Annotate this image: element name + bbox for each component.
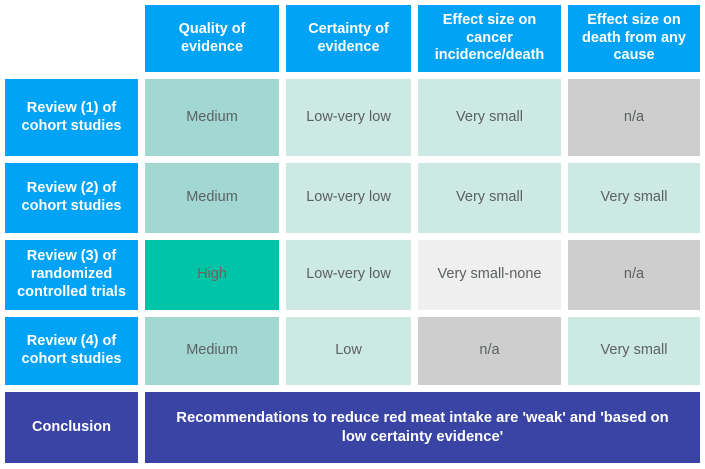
cell-review-4-effect-cancer: n/a bbox=[418, 317, 561, 385]
evidence-summary-table: Quality ofevidence Certainty ofevidence … bbox=[0, 0, 705, 469]
column-header-effect-size-cancer: Effect size oncancerincidence/death bbox=[418, 5, 561, 72]
cell-review-1-certainty: Low-very low bbox=[286, 79, 411, 156]
column-header-effect-size-death: Effect size ondeath from anycause bbox=[568, 5, 700, 72]
cell-review-4-quality: Medium bbox=[145, 317, 279, 385]
cell-review-3-quality: High bbox=[145, 240, 279, 310]
cell-review-3-effect-death: n/a bbox=[568, 240, 700, 310]
cell-review-1-effect-cancer: Very small bbox=[418, 79, 561, 156]
table-grid: Quality ofevidence Certainty ofevidence … bbox=[5, 5, 698, 464]
column-header-quality-of-evidence: Quality ofevidence bbox=[145, 5, 279, 72]
row-label-review-3: Review (3) ofrandomizedcontrolled trials bbox=[5, 240, 138, 310]
row-label-review-1: Review (1) ofcohort studies bbox=[5, 79, 138, 156]
row-label-review-2: Review (2) ofcohort studies bbox=[5, 163, 138, 233]
cell-review-2-certainty: Low-very low bbox=[286, 163, 411, 233]
cell-review-2-quality: Medium bbox=[145, 163, 279, 233]
cell-review-3-certainty: Low-very low bbox=[286, 240, 411, 310]
cell-review-3-effect-cancer: Very small-none bbox=[418, 240, 561, 310]
cell-review-2-effect-cancer: Very small bbox=[418, 163, 561, 233]
row-label-conclusion: Conclusion bbox=[5, 392, 138, 463]
conclusion-text: Recommendations to reduce red meat intak… bbox=[145, 392, 700, 463]
column-header-certainty-of-evidence: Certainty ofevidence bbox=[286, 5, 411, 72]
cell-review-4-certainty: Low bbox=[286, 317, 411, 385]
cell-review-2-effect-death: Very small bbox=[568, 163, 700, 233]
cell-review-4-effect-death: Very small bbox=[568, 317, 700, 385]
table-corner-cell bbox=[5, 5, 138, 72]
cell-review-1-quality: Medium bbox=[145, 79, 279, 156]
row-label-review-4: Review (4) ofcohort studies bbox=[5, 317, 138, 385]
cell-review-1-effect-death: n/a bbox=[568, 79, 700, 156]
